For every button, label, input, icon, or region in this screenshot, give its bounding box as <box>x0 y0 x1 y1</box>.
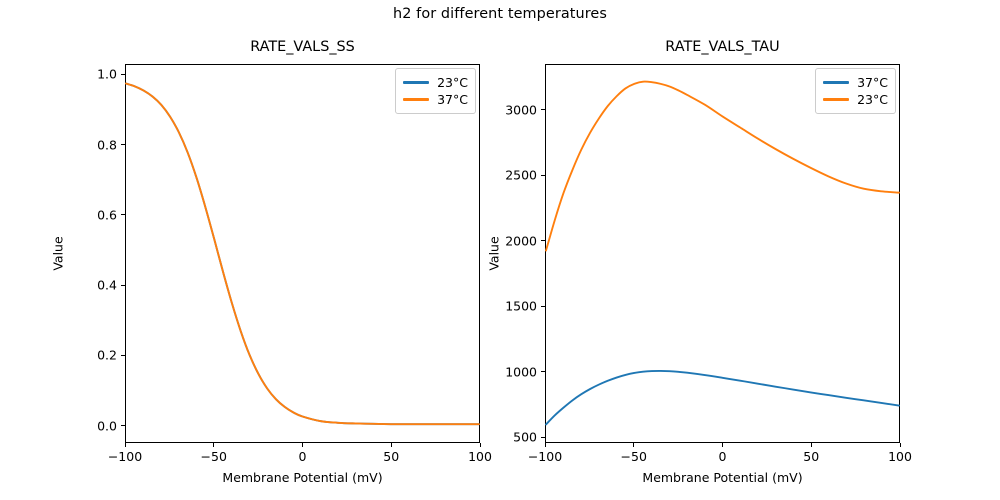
axes-right-ylabel: Value <box>487 236 502 270</box>
y-tick-label: 1500 <box>461 299 537 314</box>
y-tick-label: 0.4 <box>41 278 117 293</box>
x-tick-label: 100 <box>468 449 492 464</box>
y-tick-label: 2500 <box>461 168 537 183</box>
legend-swatch-icon <box>403 98 429 100</box>
legend-entry-37°C[interactable]: 37°C <box>403 91 468 108</box>
line-series-37°C <box>546 371 899 425</box>
legend-swatch-icon <box>403 81 429 83</box>
legend-swatch-icon <box>823 81 849 83</box>
figure-suptitle: h2 for different temperatures <box>0 6 1000 22</box>
x-tick-label: −50 <box>621 449 647 464</box>
x-tick-label: −100 <box>108 449 142 464</box>
axes-left-plot-area <box>126 65 479 442</box>
axes-left-title: RATE_VALS_SS <box>126 39 479 55</box>
y-tick-label: 0.0 <box>41 418 117 433</box>
y-tick-label: 1.0 <box>41 67 117 82</box>
axes-rate-vals-tau: RATE_VALS_TAU 37°C23°C <box>545 64 900 443</box>
legend-right[interactable]: 37°C23°C <box>815 68 896 114</box>
x-tickmark <box>900 443 901 447</box>
y-tickmark <box>541 437 545 438</box>
axes-left-ylabel: Value <box>51 236 66 270</box>
legend-entry-23°C[interactable]: 23°C <box>823 91 888 108</box>
y-tickmark <box>121 425 125 426</box>
axes-right-xlabel: Membrane Potential (mV) <box>545 470 900 485</box>
y-tickmark <box>541 109 545 110</box>
x-tick-label: 0 <box>719 449 727 464</box>
x-tickmark <box>125 443 126 447</box>
legend-entry-23°C[interactable]: 23°C <box>403 74 468 91</box>
y-tickmark <box>121 214 125 215</box>
x-tick-label: 50 <box>803 449 819 464</box>
legend-label: 23°C <box>437 75 468 90</box>
x-tick-label: −100 <box>528 449 562 464</box>
y-tick-label: 0.6 <box>41 207 117 222</box>
y-tick-label: 0.2 <box>41 348 117 363</box>
y-tickmark <box>541 240 545 241</box>
legend-label: 37°C <box>857 75 888 90</box>
y-tick-label: 1000 <box>461 364 537 379</box>
x-tickmark <box>633 443 634 447</box>
x-tickmark <box>722 443 723 447</box>
x-tickmark <box>302 443 303 447</box>
axes-left-xlabel: Membrane Potential (mV) <box>125 470 480 485</box>
x-tickmark <box>391 443 392 447</box>
x-tick-label: −50 <box>201 449 227 464</box>
legend-swatch-icon <box>823 98 849 100</box>
line-series-37°C <box>126 84 479 425</box>
axes-rate-vals-ss: RATE_VALS_SS 23°C37°C <box>125 64 480 443</box>
y-tickmark <box>541 371 545 372</box>
legend-entry-37°C[interactable]: 37°C <box>823 74 888 91</box>
y-tickmark <box>121 355 125 356</box>
x-tickmark <box>811 443 812 447</box>
x-tickmark <box>545 443 546 447</box>
y-tick-label: 3000 <box>461 102 537 117</box>
y-tick-label: 0.8 <box>41 137 117 152</box>
x-tickmark <box>213 443 214 447</box>
y-tickmark <box>121 144 125 145</box>
y-tick-label: 500 <box>461 430 537 445</box>
y-tickmark <box>121 74 125 75</box>
x-tick-label: 100 <box>888 449 912 464</box>
matplotlib-figure: h2 for different temperatures RATE_VALS_… <box>0 0 1000 500</box>
x-tick-label: 0 <box>299 449 307 464</box>
y-tickmark <box>121 285 125 286</box>
legend-label: 23°C <box>857 92 888 107</box>
y-tickmark <box>541 306 545 307</box>
axes-right-title: RATE_VALS_TAU <box>546 39 899 55</box>
y-tickmark <box>541 175 545 176</box>
x-tick-label: 50 <box>383 449 399 464</box>
axes-right-plot-area <box>546 65 899 442</box>
